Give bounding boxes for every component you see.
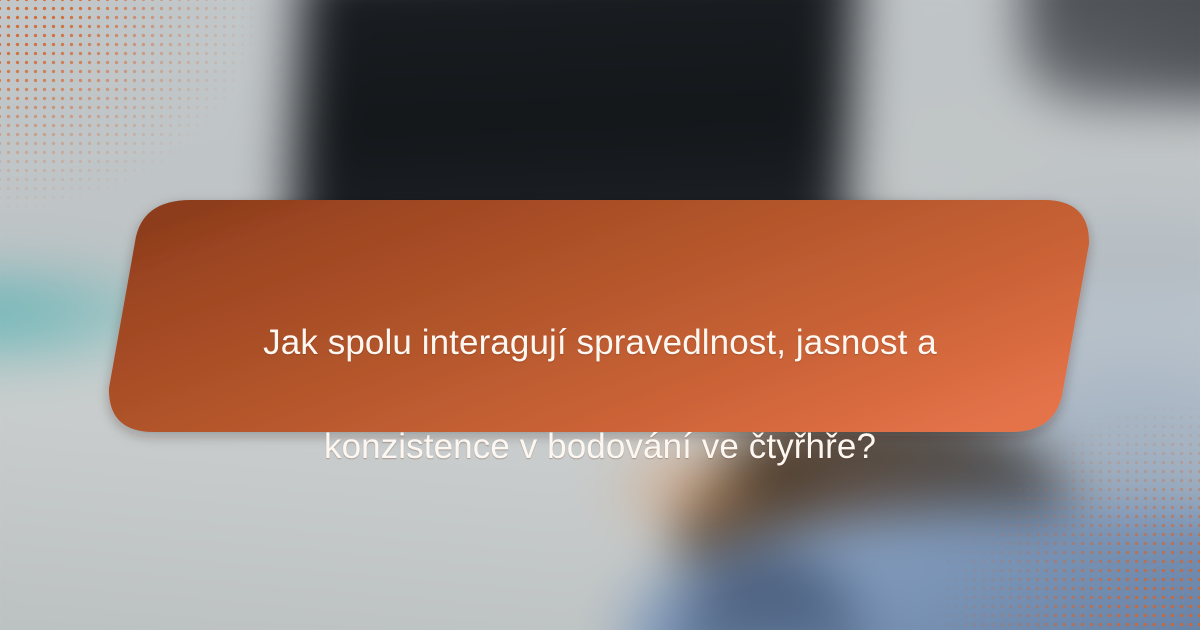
- question-text: Jak spolu interagují spravedlnost, jasno…: [180, 265, 1020, 525]
- share-card-canvas: Jak spolu interagují spravedlnost, jasno…: [0, 0, 1200, 630]
- question-card: Jak spolu interagují spravedlnost, jasno…: [0, 0, 1200, 630]
- question-text-line-1: Jak spolu interagují spravedlnost, jasno…: [180, 317, 1020, 369]
- question-text-line-2: konzistence v bodování ve čtyřhře?: [180, 421, 1020, 473]
